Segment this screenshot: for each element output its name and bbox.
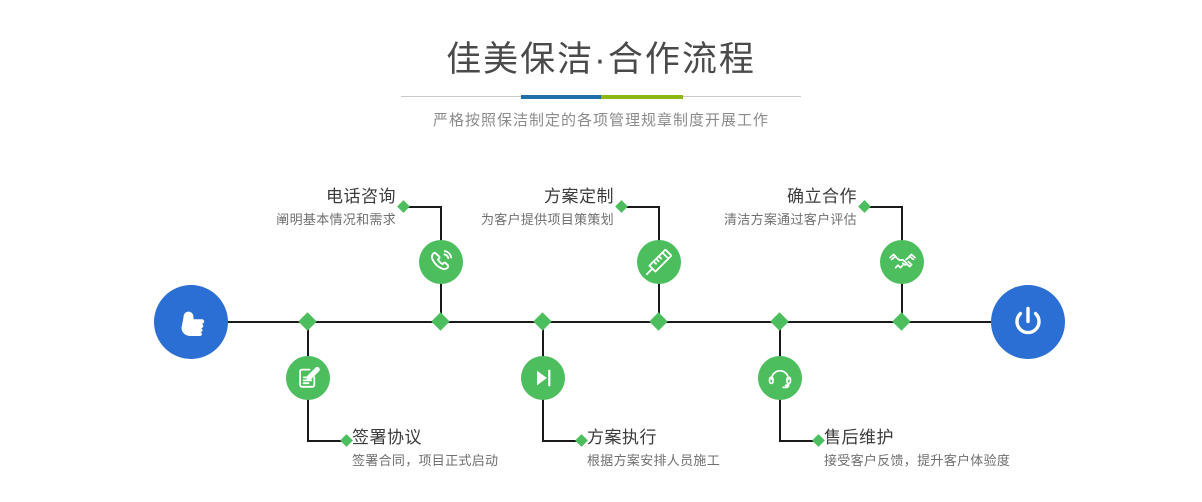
step-title-4: 方案执行: [587, 426, 827, 450]
step-icon-5[interactable]: [880, 240, 924, 284]
process-flow-diagram: 佳美保洁·合作流程 严格按照保洁制定的各项管理规章制度开展工作: [0, 0, 1202, 502]
step-label-6: 售后维护 接受客户反馈，提升客户体验度: [824, 426, 1114, 472]
step-title-2: 签署协议: [352, 426, 592, 450]
step-icon-6[interactable]: [758, 356, 802, 400]
phone-call-icon: [428, 249, 454, 275]
title-divider: [401, 95, 801, 99]
play-execute-icon: [530, 365, 556, 391]
timeline-axis: [155, 321, 1047, 323]
step-icon-3[interactable]: [637, 240, 681, 284]
customer-service-icon: [767, 365, 793, 391]
power-icon: [1007, 301, 1049, 343]
timeline-start-badge: [154, 285, 228, 359]
divider-blue-segment: [521, 95, 601, 99]
axis-marker-4: [533, 312, 551, 330]
axis-marker-3: [649, 312, 667, 330]
axis-marker-1: [431, 312, 449, 330]
divider-green-segment: [601, 95, 683, 99]
step-icon-1[interactable]: [419, 240, 463, 284]
connector-dot-2: [340, 434, 353, 447]
axis-marker-6: [770, 312, 788, 330]
step-label-3: 方案定制 为客户提供项目策策划: [410, 185, 614, 231]
step-label-4: 方案执行 根据方案安排人员施工: [587, 426, 827, 472]
axis-marker-5: [892, 312, 910, 330]
step-title-6: 售后维护: [824, 426, 1114, 450]
document-edit-icon: [295, 365, 321, 391]
connector-dot-1: [397, 200, 410, 213]
step-desc-1: 阐明基本情况和需求: [200, 209, 396, 231]
connector-dot-5: [858, 200, 871, 213]
page-subtitle: 严格按照保洁制定的各项管理规章制度开展工作: [0, 99, 1202, 132]
pencil-ruler-icon: [646, 249, 672, 275]
step-desc-5: 清洁方案通过客户评估: [645, 209, 857, 231]
step-label-1: 电话咨询 阐明基本情况和需求: [200, 185, 396, 231]
step-title-1: 电话咨询: [200, 185, 396, 209]
step-label-2: 签署协议 签署合同，项目正式启动: [352, 426, 592, 472]
step-icon-2[interactable]: [286, 356, 330, 400]
pointing-hand-icon: [171, 302, 211, 342]
step-desc-4: 根据方案安排人员施工: [587, 450, 827, 472]
step-label-5: 确立合作 清洁方案通过客户评估: [645, 185, 857, 231]
step-desc-2: 签署合同，项目正式启动: [352, 450, 592, 472]
step-icon-4[interactable]: [521, 356, 565, 400]
handshake-icon: [889, 249, 916, 276]
step-desc-3: 为客户提供项目策策划: [410, 209, 614, 231]
axis-marker-2: [298, 312, 316, 330]
connector-dot-3: [615, 200, 628, 213]
step-desc-6: 接受客户反馈，提升客户体验度: [824, 450, 1114, 472]
diagram-header: 佳美保洁·合作流程 严格按照保洁制定的各项管理规章制度开展工作: [0, 0, 1202, 132]
step-title-5: 确立合作: [645, 185, 857, 209]
page-title: 佳美保洁·合作流程: [0, 0, 1202, 82]
step-title-3: 方案定制: [410, 185, 614, 209]
timeline-end-badge: [991, 285, 1065, 359]
